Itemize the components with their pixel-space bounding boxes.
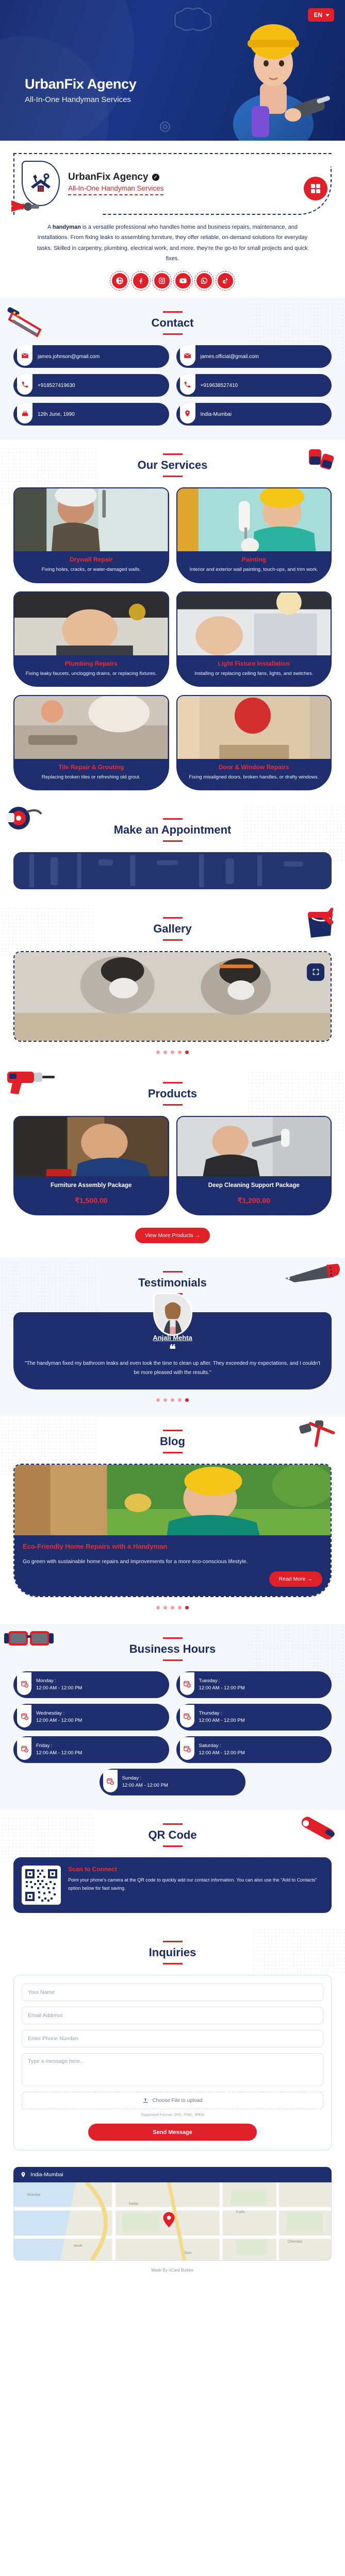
map-wrap: India-Mumbai: [0, 2167, 345, 2261]
business-hours-grid: Monday : 12:00 AM - 12:00 PM Tuesday : 1…: [0, 1671, 345, 1763]
business-name: UrbanFix Agency: [68, 172, 149, 183]
contact-value: India-Mumbai: [201, 412, 232, 417]
phone-field[interactable]: Enter Phone Number: [22, 2030, 323, 2047]
heading-bar-top: [163, 1823, 183, 1825]
email-icon: [17, 345, 32, 366]
hero-subtitle: All-In-One Handyman Services: [25, 95, 137, 104]
heading-bar-bottom: [163, 939, 183, 941]
hours-day: Saturday :: [199, 1742, 245, 1750]
heading-bar-top: [163, 917, 183, 919]
heading-bar-top: [163, 1082, 183, 1083]
products-title: Products: [0, 1087, 345, 1100]
product-price: ₹1,200.00: [182, 1196, 327, 1205]
contact-location[interactable]: India-Mumbai: [176, 403, 332, 426]
heading-bar-top: [163, 453, 183, 455]
calendar-clock-icon: [180, 1672, 194, 1695]
hours-text: Thursday : 12:00 AM - 12:00 PM: [199, 1710, 245, 1725]
qr-wrap: Scan to Connect Point your phone's camer…: [0, 1857, 345, 1913]
phone-icon: [180, 374, 195, 395]
svg-text:Kurla: Kurla: [236, 2211, 244, 2214]
qr-card-title: Scan to Connect: [68, 1866, 323, 1873]
carousel-dot[interactable]: [171, 1398, 174, 1402]
facebook-icon[interactable]: [133, 273, 149, 289]
hours-row-sunday: Sunday : 12:00 AM - 12:00 PM: [100, 1769, 246, 1795]
blog-btn-row: Read More →: [23, 1571, 322, 1587]
carousel-dot[interactable]: [178, 1398, 182, 1402]
hours-text: Sunday : 12:00 AM - 12:00 PM: [122, 1775, 168, 1790]
blog-body: Eco-Friendly Home Repairs with a Handyma…: [14, 1535, 331, 1596]
hero-title: UrbanFix Agency: [25, 76, 137, 92]
testimonials-section: Testimonials Anjali Mehta ❝ "The handyma…: [0, 1258, 345, 1416]
testimonial-wrap: Anjali Mehta ❝ "The handyman fixed my ba…: [0, 1312, 345, 1402]
appointment-title: Make an Appointment: [0, 823, 345, 837]
calendar-clock-icon: [180, 1705, 194, 1727]
service-photo: [177, 592, 331, 655]
service-card[interactable]: Plumbing Repairs Fixing leaky faucets, u…: [13, 591, 169, 687]
service-desc: Installing or replacing ceiling fans, li…: [183, 670, 326, 677]
qr-section: QR Code: [0, 1810, 345, 1927]
heading-bar-bottom: [163, 1845, 183, 1847]
product-photo: [14, 1117, 168, 1176]
gallery-carousel-dots[interactable]: [13, 1050, 332, 1054]
heading-bar-bottom: [163, 1963, 183, 1964]
blog-section: Blog Eco-Friendly Home Repairs with a Ha…: [0, 1416, 345, 1624]
message-field[interactable]: Type a message here...: [22, 2053, 323, 2086]
service-body: Tile Repair & Grouting Replacing broken …: [14, 759, 168, 789]
hours-text: Wednesday : 12:00 AM - 12:00 PM: [36, 1710, 82, 1725]
qr-code-image[interactable]: [22, 1866, 61, 1905]
heading-bar-bottom: [163, 1452, 183, 1453]
hours-row-wednesday: Wednesday : 12:00 AM - 12:00 PM: [13, 1704, 169, 1731]
gear-small-decor-icon: [155, 118, 175, 135]
svg-text:Sion: Sion: [185, 2252, 192, 2256]
contact-phone-1[interactable]: +918527419630: [13, 374, 169, 397]
service-photo: [177, 488, 331, 551]
service-name: Plumbing Repairs: [20, 660, 163, 667]
instagram-icon[interactable]: [154, 273, 170, 289]
qr-code-icon: [24, 1868, 59, 1903]
inquiries-section: Inquiries Your Name Email Address Enter …: [0, 1927, 345, 2165]
service-name: Drywall Repair: [20, 556, 163, 563]
profile-section: UrbanFix Agency ✓ All-In-One Handyman Se…: [0, 141, 345, 298]
hours-row-saturday: Saturday : 12:00 AM - 12:00 PM: [176, 1736, 332, 1763]
gallery-wrap: [0, 951, 345, 1054]
product-body: Furniture Assembly Package ₹1,500.00: [14, 1176, 168, 1214]
qr-card-desc: Point your phone's camera at the QR code…: [68, 1876, 323, 1892]
service-photo: [14, 696, 168, 759]
hours-day: Monday :: [36, 1677, 82, 1685]
hours-row-monday: Monday : 12:00 AM - 12:00 PM: [13, 1671, 169, 1698]
blog-photo: [14, 1465, 331, 1535]
blog-post-title: Eco-Friendly Home Repairs with a Handyma…: [23, 1543, 322, 1550]
contact-heading: Contact: [0, 311, 345, 335]
appointment-section: Make an Appointment Pick a Date: [0, 805, 345, 904]
file-format-note: Supported Format: JPG, PNG, JPEG: [22, 2112, 323, 2117]
svg-text:Worli: Worli: [74, 2245, 82, 2248]
carousel-dot[interactable]: [156, 1398, 160, 1402]
heading-bar-top: [163, 311, 183, 313]
service-photo: [14, 592, 168, 655]
tiktok-icon[interactable]: [218, 273, 233, 289]
hero-text-block: UrbanFix Agency All-In-One Handyman Serv…: [25, 76, 137, 104]
social-links: [13, 273, 332, 289]
service-card[interactable]: Tile Repair & Grouting Replacing broken …: [13, 695, 169, 790]
gallery-heading: Gallery: [0, 917, 345, 941]
vcard-page: EN UrbanFix Agency All-In-One Handyman S…: [0, 0, 345, 2279]
hours-text: Friday : 12:00 AM - 12:00 PM: [36, 1742, 82, 1757]
company-logo: [22, 161, 60, 206]
hours-row-tuesday: Tuesday : 12:00 AM - 12:00 PM: [176, 1671, 332, 1698]
product-name: Deep Cleaning Support Package: [182, 1181, 327, 1190]
business-name-row: UrbanFix Agency ✓: [68, 172, 163, 183]
carousel-dot[interactable]: [156, 1050, 160, 1054]
service-desc: Replacing broken tiles or refreshing old…: [20, 773, 163, 781]
map-header: India-Mumbai: [13, 2167, 332, 2182]
service-name: Painting: [183, 556, 326, 563]
contact-email-1[interactable]: james.johnson@gmail.com: [13, 345, 169, 368]
inquiries-heading: Inquiries: [0, 1941, 345, 1964]
whatsapp-icon[interactable]: [196, 273, 212, 289]
inquiry-form: Your Name Email Address Enter Phone Numb…: [13, 1975, 332, 2150]
business-hours-heading: Business Hours: [0, 1637, 345, 1661]
service-photo: [177, 696, 331, 759]
business-hours-title: Business Hours: [0, 1642, 345, 1656]
hours-row-thursday: Thursday : 12:00 AM - 12:00 PM: [176, 1704, 332, 1731]
name-field[interactable]: Your Name: [22, 1984, 323, 2001]
product-card[interactable]: Deep Cleaning Support Package ₹1,200.00: [176, 1116, 332, 1215]
read-more-button[interactable]: Read More →: [269, 1571, 322, 1587]
carousel-dot[interactable]: [156, 1606, 160, 1609]
hours-value: 12:00 AM - 12:00 PM: [199, 1750, 245, 1757]
contact-email-2[interactable]: james.official@gmail.com: [176, 345, 332, 368]
carousel-dot[interactable]: [171, 1050, 174, 1054]
upload-icon: [142, 2097, 149, 2104]
hours-value: 12:00 AM - 12:00 PM: [122, 1782, 168, 1790]
about-bold-word: handyman: [53, 224, 81, 230]
product-card[interactable]: Furniture Assembly Package ₹1,500.00: [13, 1116, 169, 1215]
calendar-clock-icon: [17, 1737, 31, 1760]
carousel-dot[interactable]: [171, 1606, 174, 1609]
appointment-heading: Make an Appointment: [0, 818, 345, 842]
gallery-photo: [14, 952, 331, 1041]
blog-card[interactable]: Eco-Friendly Home Repairs with a Handyma…: [13, 1464, 332, 1597]
service-desc: Interior and exterior wall painting, tou…: [183, 566, 326, 573]
service-body: Light Fixture Installation Installing or…: [177, 655, 331, 686]
hours-sunday-wrap: Sunday : 12:00 AM - 12:00 PM: [0, 1769, 345, 1795]
svg-text:Chembur: Chembur: [288, 2241, 303, 2244]
hours-day: Tuesday :: [199, 1677, 245, 1685]
carousel-dot[interactable]: [163, 1606, 167, 1609]
profile-name-block: UrbanFix Agency ✓ All-In-One Handyman Se…: [68, 172, 163, 195]
hero-handyman-photo: [216, 6, 332, 141]
hours-text: Saturday : 12:00 AM - 12:00 PM: [199, 1742, 245, 1757]
service-body: Plumbing Repairs Fixing leaky faucets, u…: [14, 655, 168, 686]
heading-bar-top: [163, 1430, 183, 1431]
hours-value: 12:00 AM - 12:00 PM: [36, 1717, 82, 1725]
email-icon: [180, 345, 195, 366]
hours-day: Thursday :: [199, 1710, 245, 1718]
map-location-label: India-Mumbai: [30, 2172, 63, 2178]
verified-badge-icon: ✓: [152, 174, 159, 181]
calendar-clock-icon: [180, 1737, 194, 1760]
calendar-clock-icon: [17, 1672, 31, 1695]
blog-carousel-dots[interactable]: [13, 1606, 332, 1609]
testimonial-card: Anjali Mehta ❝ "The handyman fixed my ba…: [13, 1312, 332, 1389]
service-name: Light Fixture Installation: [183, 660, 326, 667]
gallery-title: Gallery: [0, 922, 345, 936]
testimonial-text: "The handyman fixed my bathroom leaks an…: [25, 1359, 320, 1377]
carousel-dot[interactable]: [178, 1606, 182, 1609]
hours-value: 12:00 AM - 12:00 PM: [199, 1685, 245, 1692]
contact-birthday[interactable]: 12th June, 1990: [13, 403, 169, 426]
qr-shortcut-button[interactable]: [304, 177, 327, 200]
hours-value: 12:00 AM - 12:00 PM: [36, 1750, 82, 1757]
birthday-cake-icon: [17, 403, 32, 423]
testimonial-carousel-dots[interactable]: [13, 1398, 332, 1402]
service-desc: Fixing leaky faucets, unclogging drains,…: [20, 670, 163, 677]
hours-text: Tuesday : 12:00 AM - 12:00 PM: [199, 1677, 245, 1692]
gear-outline-decor-icon: [170, 5, 217, 32]
carousel-dot-active[interactable]: [185, 1606, 189, 1609]
contact-value: james.johnson@gmail.com: [38, 354, 100, 360]
blog-heading: Blog: [0, 1430, 345, 1453]
hours-value: 12:00 AM - 12:00 PM: [199, 1717, 245, 1725]
svg-text:Dadar: Dadar: [128, 2202, 139, 2206]
testimonials-heading: Testimonials: [0, 1271, 345, 1295]
contact-value: james.official@gmail.com: [201, 354, 259, 360]
contact-section: Contact james.johnson@gmail.com james.of…: [0, 298, 345, 440]
product-name: Furniture Assembly Package: [19, 1181, 164, 1190]
qr-heading: QR Code: [0, 1823, 345, 1847]
heading-bar-bottom: [163, 1659, 183, 1661]
gallery-slide[interactable]: [13, 951, 332, 1042]
email-field[interactable]: Email Address: [22, 2007, 323, 2024]
products-heading: Products: [0, 1082, 345, 1106]
service-name: Tile Repair & Grouting: [20, 764, 163, 771]
carousel-dot[interactable]: [178, 1050, 182, 1054]
footer-credit: Made By vCard Builder: [0, 2261, 345, 2279]
carousel-dot-active[interactable]: [185, 1050, 189, 1054]
inquiries-title: Inquiries: [0, 1946, 345, 1959]
appointment-box: Pick a Date: [13, 852, 332, 889]
product-price: ₹1,500.00: [19, 1196, 164, 1205]
map-section: India-Mumbai: [0, 2165, 345, 2279]
about-text: A handyman is a versatile professional w…: [34, 222, 311, 264]
service-desc: Fixing misaligned doors, broken handles,…: [183, 773, 326, 781]
service-body: Drywall Repair Fixing holes, cracks, or …: [14, 551, 168, 582]
heading-bar-top: [163, 1271, 183, 1273]
inquiry-form-wrap: Your Name Email Address Enter Phone Numb…: [0, 1975, 345, 2150]
product-photo: [177, 1117, 331, 1176]
view-more-products-button[interactable]: View More Products →: [135, 1228, 210, 1243]
heading-bar-bottom: [163, 840, 183, 842]
business-tagline: All-In-One Handyman Services: [68, 184, 163, 195]
heading-bar-top: [163, 1637, 183, 1639]
blog-wrap: Eco-Friendly Home Repairs with a Handyma…: [0, 1464, 345, 1609]
hero-banner: EN UrbanFix Agency All-In-One Handyman S…: [0, 0, 345, 141]
service-card[interactable]: Painting Interior and exterior wall pain…: [176, 487, 332, 583]
hours-day: Friday :: [36, 1742, 82, 1750]
qr-grid-icon: [310, 183, 321, 194]
avatar: [153, 1293, 192, 1336]
products-grid: Furniture Assembly Package ₹1,500.00 Dee…: [0, 1116, 345, 1215]
heading-bar-bottom: [163, 1104, 183, 1106]
services-heading: Our Services: [0, 453, 345, 477]
qr-card: Scan to Connect Point your phone's camer…: [13, 1857, 332, 1913]
map-image: Mumbai Dadar Kurla Chembur Worli Sion: [14, 2182, 331, 2260]
contact-grid: james.johnson@gmail.com james.official@g…: [0, 345, 345, 426]
hours-row-friday: Friday : 12:00 AM - 12:00 PM: [13, 1736, 169, 1763]
calendar-clock-icon: [17, 1705, 31, 1727]
service-card[interactable]: Light Fixture Installation Installing or…: [176, 591, 332, 687]
location-pin-icon: [180, 403, 195, 423]
file-upload-label: Choose File to upload: [152, 2098, 202, 2104]
expand-icon[interactable]: [307, 963, 324, 981]
service-body: Painting Interior and exterior wall pain…: [177, 551, 331, 582]
blog-post-desc: Go green with sustainable home repairs a…: [23, 1557, 322, 1566]
business-hours-section: Business Hours Monday : 12:00 AM - 12:00…: [0, 1624, 345, 1810]
hours-day: Sunday :: [122, 1775, 168, 1783]
map-canvas[interactable]: Mumbai Dadar Kurla Chembur Worli Sion: [13, 2182, 332, 2261]
service-name: Door & Window Repairs: [183, 764, 326, 771]
carousel-dot[interactable]: [163, 1398, 167, 1402]
heading-bar-top: [163, 1941, 183, 1942]
service-photo: [14, 488, 168, 551]
profile-card: UrbanFix Agency ✓ All-In-One Handyman Se…: [13, 153, 332, 215]
contact-value: +919638527410: [201, 383, 238, 388]
view-more-wrap: View More Products →: [0, 1228, 345, 1243]
blog-title: Blog: [0, 1435, 345, 1448]
products-section: Products Furniture Assembly Package ₹1,5…: [0, 1069, 345, 1258]
tool-wall-background: [13, 852, 332, 889]
calendar-clock-icon: [103, 1770, 118, 1792]
qr-text-block: Scan to Connect Point your phone's camer…: [68, 1866, 323, 1892]
services-section: Our Services Drywall Repair Fixing holes…: [0, 440, 345, 805]
services-grid: Drywall Repair Fixing holes, cracks, or …: [0, 487, 345, 790]
service-card[interactable]: Door & Window Repairs Fixing misaligned …: [176, 695, 332, 790]
hours-value: 12:00 AM - 12:00 PM: [36, 1685, 82, 1692]
website-icon[interactable]: [112, 273, 127, 289]
carousel-dot-active[interactable]: [185, 1398, 189, 1402]
file-upload-field[interactable]: Choose File to upload: [22, 2092, 323, 2109]
heading-bar-top: [163, 818, 183, 820]
heading-bar-bottom: [163, 333, 183, 335]
testimonials-title: Testimonials: [0, 1276, 345, 1290]
service-body: Door & Window Repairs Fixing misaligned …: [177, 759, 331, 789]
hours-day: Wednesday :: [36, 1710, 82, 1718]
location-pin-icon: [20, 2172, 26, 2178]
service-desc: Fixing holes, cracks, or water-damaged w…: [20, 566, 163, 573]
contact-phone-2[interactable]: +919638527410: [176, 374, 332, 397]
youtube-icon[interactable]: [175, 273, 191, 289]
contact-title: Contact: [0, 316, 345, 330]
house-tools-logo-icon: [29, 173, 53, 194]
phone-icon: [17, 374, 32, 395]
svg-text:Mumbai: Mumbai: [27, 2193, 40, 2197]
qr-title: QR Code: [0, 1828, 345, 1842]
hours-text: Monday : 12:00 AM - 12:00 PM: [36, 1677, 82, 1692]
product-body: Deep Cleaning Support Package ₹1,200.00: [177, 1176, 331, 1214]
carousel-dot[interactable]: [163, 1050, 167, 1054]
appointment-wrap: Pick a Date: [0, 852, 345, 889]
services-title: Our Services: [0, 459, 345, 472]
contact-value: 12th June, 1990: [38, 412, 75, 417]
quote-icon: ❝: [25, 1344, 320, 1356]
service-card[interactable]: Drywall Repair Fixing holes, cracks, or …: [13, 487, 169, 583]
gallery-section: Gallery: [0, 904, 345, 1069]
heading-bar-bottom: [163, 476, 183, 477]
contact-value: +918527419630: [38, 383, 75, 388]
send-message-button[interactable]: Send Message: [88, 2124, 257, 2141]
